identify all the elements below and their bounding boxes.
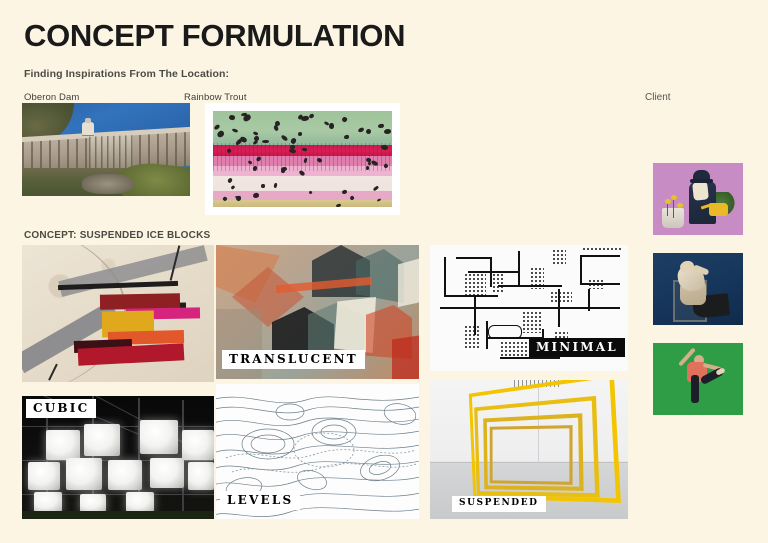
minimal-mark-19: [588, 289, 590, 311]
client1-hat: [693, 170, 710, 182]
cubic-cube-12: [126, 492, 154, 512]
minimal-mark-3: [456, 257, 492, 259]
minimal-dot-grid-1: [464, 273, 486, 295]
minimal-dot-grid-4: [552, 249, 566, 265]
cubic-cube-8: [150, 458, 184, 488]
minimal-dot-grid-7: [464, 325, 480, 349]
trout-spot: [341, 189, 346, 194]
concept-tile-collage[interactable]: [22, 245, 214, 382]
cubic-cube-11: [80, 494, 106, 512]
client3-standing-leg: [691, 375, 699, 403]
minimal-mark-2: [444, 295, 498, 297]
client-image-1[interactable]: [653, 163, 743, 235]
dam-intake-tower: [82, 122, 94, 135]
dam-spillway: [89, 136, 133, 171]
page-title: CONCEPT FORMULATION: [24, 18, 405, 54]
inspiration-subtitle: Finding Inspirations From The Location:: [24, 68, 229, 80]
client-label: Client: [645, 92, 671, 103]
trout-spot: [329, 122, 334, 128]
minimal-dot-grid-8: [522, 311, 542, 333]
trout-belly: [213, 176, 392, 191]
minimal-dot-grid-2: [492, 273, 504, 293]
dam-rocks: [82, 174, 132, 194]
trout-spot: [366, 129, 372, 134]
trout-spot: [344, 135, 349, 139]
translucent-shape-10: [392, 333, 419, 379]
cubic-cube-1: [46, 430, 80, 460]
minimal-mark-9: [440, 307, 560, 309]
client1-flower-b: [671, 195, 677, 200]
cubic-ground: [22, 511, 214, 519]
cubic-cube-4: [182, 430, 214, 460]
minimal-mark-12: [580, 255, 620, 257]
slide-canvas: CONCEPT FORMULATION Finding Inspirations…: [0, 0, 768, 543]
trout-spot: [368, 162, 371, 165]
trout-lower-edge: [213, 200, 392, 207]
tile-label-levels: LEVELS: [220, 491, 300, 510]
suspended-frame-4: [490, 425, 573, 485]
caption-oberon-dam: Oberon Dam: [24, 92, 79, 103]
cubic-cube-9: [188, 462, 214, 490]
caption-rainbow-trout: Rainbow Trout: [184, 92, 247, 103]
client1-scarf: [692, 182, 709, 201]
image-rainbow-trout[interactable]: [205, 103, 400, 215]
trout-spot: [228, 114, 235, 120]
minimal-dot-grid-5: [550, 291, 572, 303]
client1-watering-can: [709, 203, 728, 216]
cubic-cube-6: [66, 458, 102, 490]
minimal-capsule: [488, 325, 522, 339]
client-image-3[interactable]: [653, 343, 743, 415]
cubic-cube-7: [108, 460, 142, 490]
trout-spot: [335, 203, 340, 207]
tile-label-cubic: CUBIC: [26, 399, 96, 418]
tile-label-suspended: SUSPENDED: [452, 496, 546, 512]
cubic-cube-3: [140, 420, 178, 454]
trout-spot: [366, 166, 369, 170]
trout-skin: [213, 111, 392, 207]
minimal-dot-grid-11: [582, 247, 622, 252]
cubic-cube-2: [84, 424, 120, 456]
tile-label-minimal: MINIMAL: [529, 338, 625, 357]
minimal-dot-grid-3: [530, 267, 544, 289]
minimal-mark-1: [444, 257, 446, 295]
minimal-mark-13: [580, 255, 582, 285]
cubic-cube-5: [28, 462, 60, 490]
concept-section-label: CONCEPT: SUSPENDED ICE BLOCKS: [24, 230, 210, 241]
tile-label-translucent: TRANSLUCENT: [222, 350, 365, 369]
minimal-dot-grid-6: [588, 279, 604, 289]
trout-spot: [262, 140, 269, 143]
image-oberon-dam[interactable]: [22, 103, 190, 196]
minimal-dot-grid-9: [500, 341, 530, 359]
cubic-cube-10: [34, 492, 62, 512]
client-image-2[interactable]: [653, 253, 743, 325]
client1-stem-b: [673, 198, 674, 218]
minimal-mark-6: [518, 251, 520, 285]
client1-flower-a: [665, 199, 671, 204]
